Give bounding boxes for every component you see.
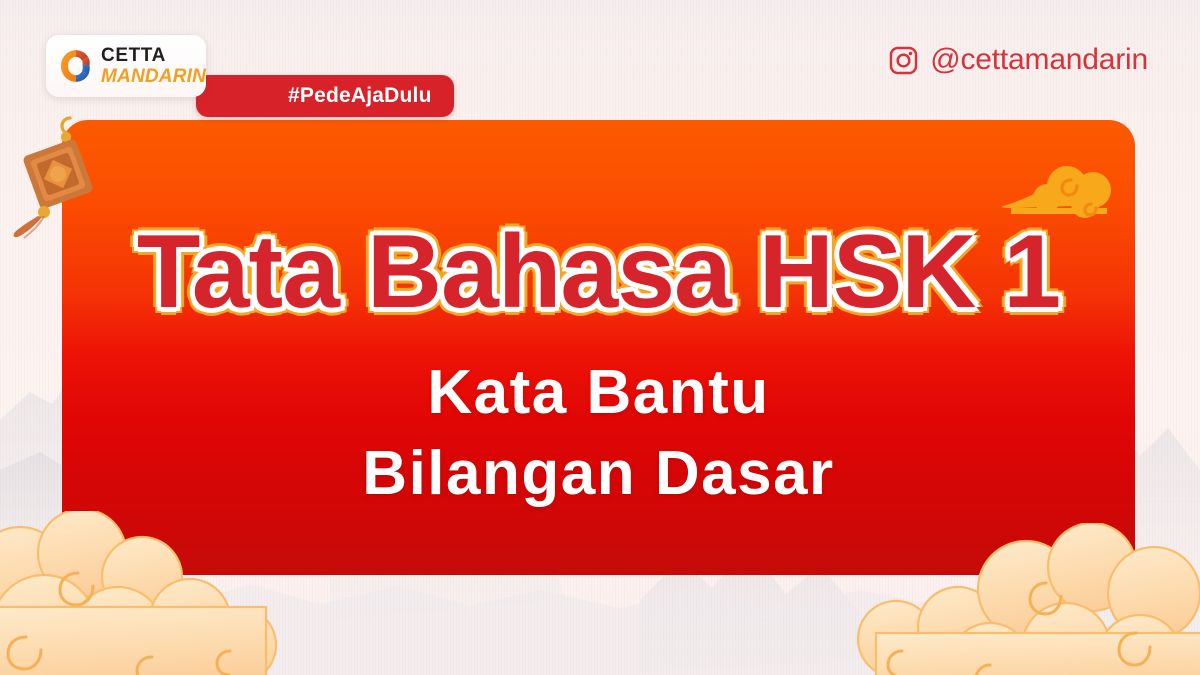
cloud-decoration-left [0,511,406,675]
hashtag-label: #PedeAjaDulu [288,84,432,108]
subtitle-line-1: Kata Bantu [427,358,769,427]
instagram-icon [888,45,919,76]
chinese-hanging-ornament-icon [4,112,124,252]
title-card: Tata Bahasa HSK 1 Kata Bantu Bilangan Da… [62,120,1135,575]
card-titles: Tata Bahasa HSK 1 Kata Bantu Bilangan Da… [62,120,1135,575]
page-title: Tata Bahasa HSK 1 [137,220,1060,324]
instagram-group[interactable]: @cettamandarin [888,43,1148,77]
brand-group: #PedeAjaDulu [46,23,206,97]
logo-line-cetta: CETTA [101,46,206,65]
logo-card[interactable]: CETTA MANDARIN [46,35,206,97]
chinese-cloud-icon [997,142,1127,234]
cloud-decoration-right [830,523,1200,675]
logo-line-mandarin: MANDARIN [101,67,206,86]
hashtag-badge: #PedeAjaDulu [196,75,454,117]
instagram-handle: @cettamandarin [930,43,1148,77]
subtitle-line-2: Bilangan Dasar [362,439,834,508]
logo-wordmark: CETTA MANDARIN [101,46,206,86]
cetta-c-logo-icon [56,45,96,87]
header-bar: #PedeAjaDulu [0,0,1200,120]
